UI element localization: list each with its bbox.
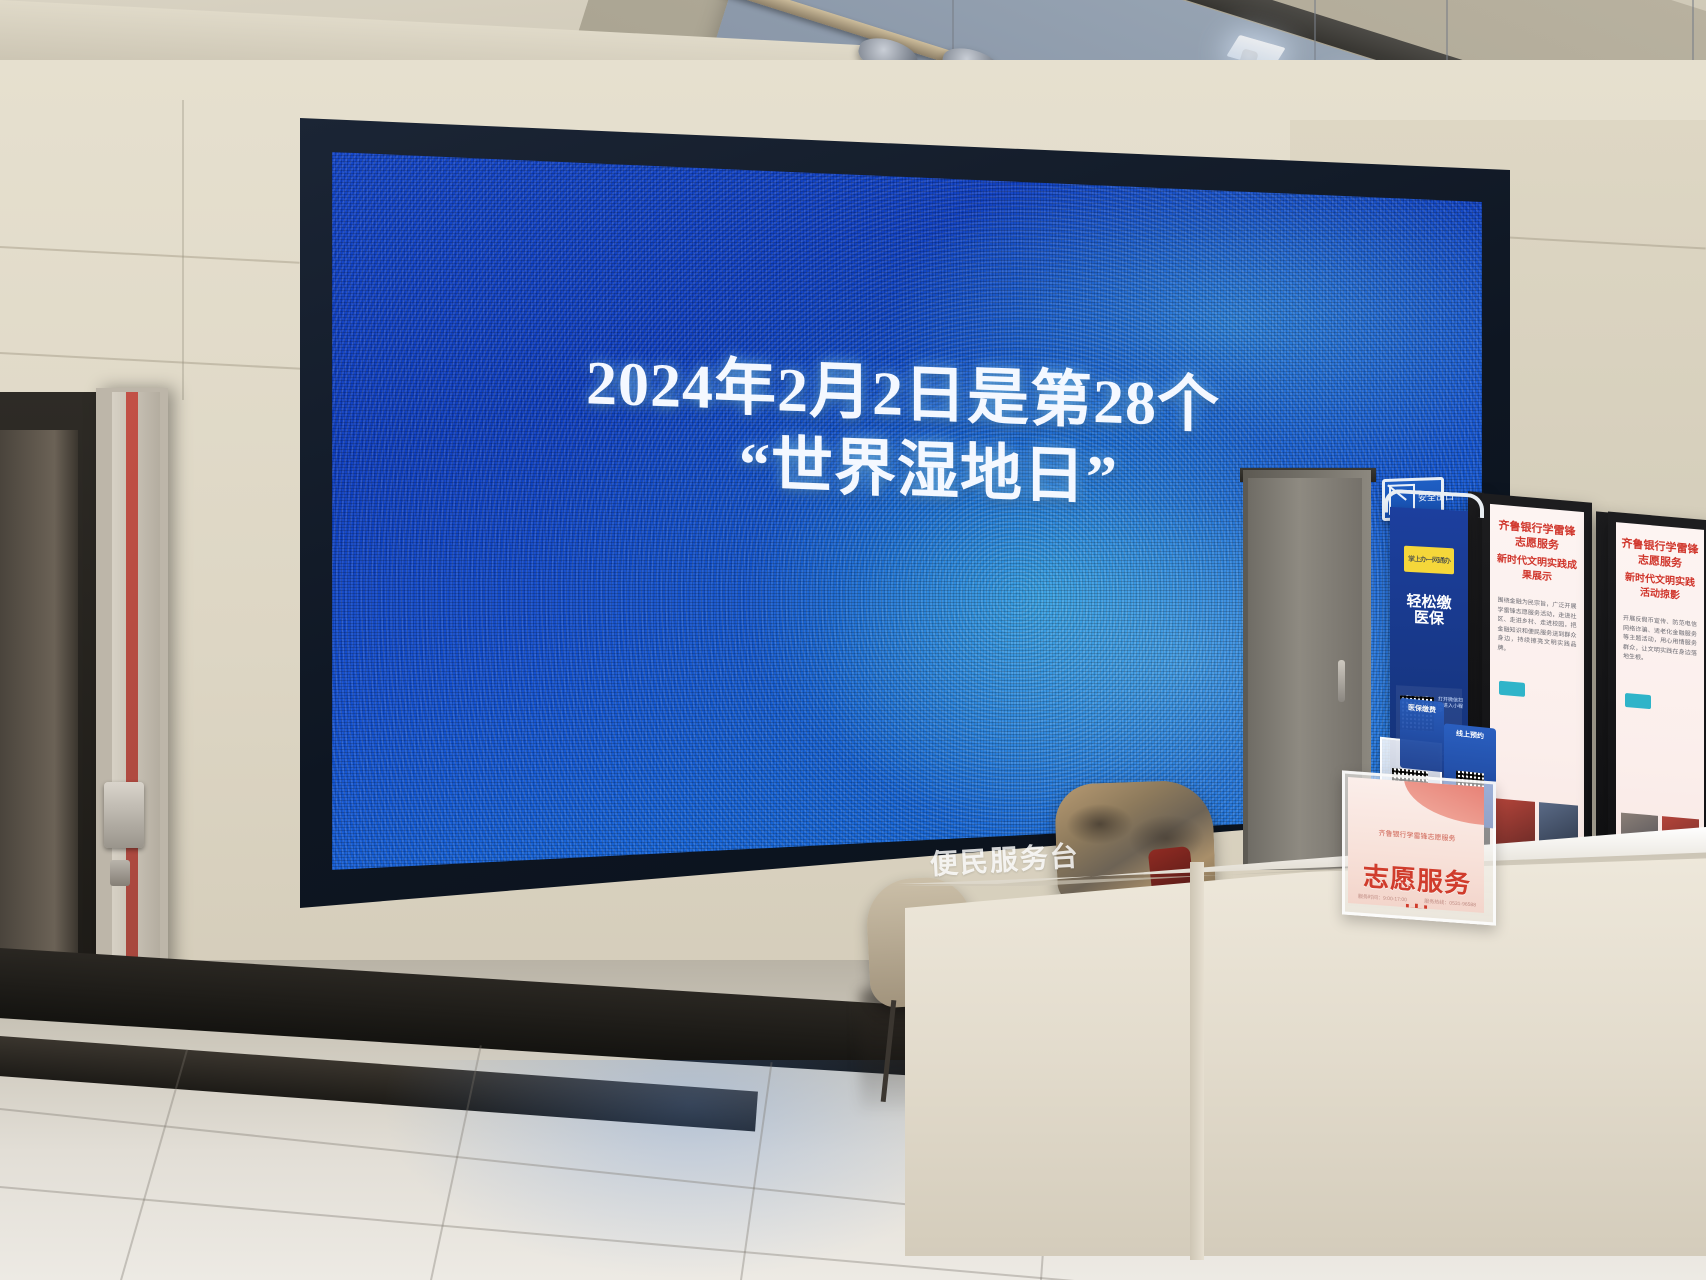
poster-photo	[1496, 798, 1535, 847]
rollup-badge-label: 掌上办一网通办	[1408, 555, 1450, 564]
blue-info-card-2-label: 医保缴费	[1404, 704, 1440, 716]
left-door-handle[interactable]	[104, 782, 144, 848]
wall-panel-joint	[182, 100, 184, 400]
scene-root: 2024年2月2日是第28个 “世界湿地日” 安全出口 齐鲁银行学雷锋志愿服务 …	[0, 0, 1706, 1280]
poster-1-heading-2: 新时代文明实践成果展示	[1496, 552, 1579, 586]
poster-1-body: 围绕金融为民宗旨，广泛开展学雷锋志愿服务活动，走进社区、走进乡村、走进校园，把金…	[1498, 597, 1577, 661]
right-door-handle[interactable]	[1338, 660, 1345, 702]
reception-desk-side-panel	[1190, 862, 1204, 1260]
poster-1-heading-1: 齐鲁银行学雷锋志愿服务	[1496, 518, 1579, 555]
poster-2-body: 开展反假币宣传、防范电信网络诈骗、适老化金融服务等主题活动，用心用情服务群众，让…	[1623, 615, 1697, 669]
left-door-lock-icon[interactable]	[110, 860, 130, 886]
poster-2-heading-2: 新时代文明实践活动掠影	[1621, 571, 1698, 605]
reception-desk[interactable]	[905, 836, 1706, 1256]
blue-info-card-label: 线上预约	[1448, 730, 1492, 743]
poster-2-heading-1: 齐鲁银行学雷锋志愿服务	[1621, 537, 1698, 573]
volunteer-service-post-sign[interactable]: 齐鲁银行学雷锋志愿服务 志愿服务岗 服务时间：9:00-17:00 服务热线：0…	[1348, 777, 1484, 913]
poster-2-accent-chip	[1625, 693, 1651, 709]
poster-1-accent-chip	[1499, 681, 1525, 697]
blue-info-card-2[interactable]: 医保缴费	[1400, 698, 1444, 773]
volunteer-sign-subtitle: 齐鲁银行学雷锋志愿服务	[1358, 828, 1476, 846]
left-doorway-interior	[0, 430, 78, 990]
rollup-badge: 掌上办一网通办	[1404, 546, 1454, 575]
rollup-title: 轻松缴医保	[1400, 593, 1458, 629]
